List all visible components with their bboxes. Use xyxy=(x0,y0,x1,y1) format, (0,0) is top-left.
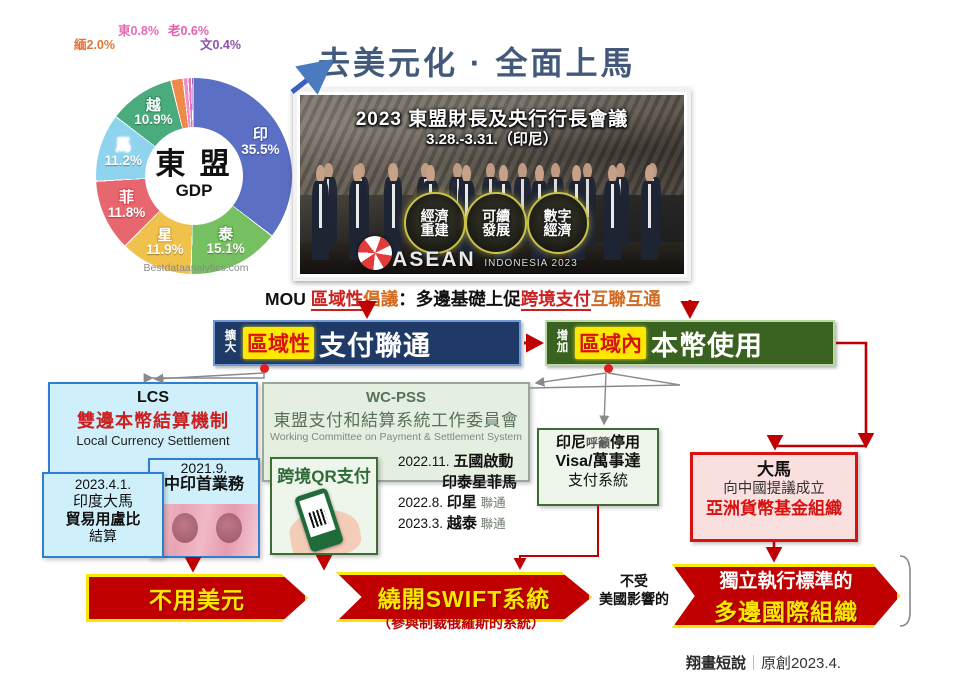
timeline-note-3: 聯通 xyxy=(481,496,506,510)
timeline-note-4: 聯通 xyxy=(481,517,506,531)
amf-box-line3: 亞洲貨幣基金組織 xyxy=(693,498,855,519)
footer-brand: 翔畫短說 xyxy=(686,655,746,672)
timeline-date-1: 2022.11. xyxy=(398,453,450,472)
timeline-row-2: 印泰星菲馬 xyxy=(398,473,530,494)
outcome-swift-label: 繞開SWIFT系統 xyxy=(378,580,551,614)
banner-green-main: 本幣使用 xyxy=(651,324,763,363)
timeline-date-4: 2023.3. xyxy=(398,515,443,534)
delegate xyxy=(640,165,659,260)
rupee-box-line3: 結算 xyxy=(44,528,162,545)
outcome-multilateral-line2: 多邊國際組織 xyxy=(714,593,858,627)
indonesia-visa-mastercard-box[interactable]: 印尼呼籲停用 Visa/萬事達 支付系統 xyxy=(537,428,659,506)
lcs-title: LCS xyxy=(50,389,256,407)
photo-badge-2: 可續 發展 xyxy=(465,192,527,254)
timeline-event-1: 五國啟動 xyxy=(453,453,513,470)
outcome-swift-sublabel: （參與制裁俄羅斯的系統） xyxy=(336,613,586,633)
lcs-chinese-name: 雙邊本幣結算機制 xyxy=(50,407,256,433)
china-india-first-business-box[interactable]: 2021.9. 中印首業務 xyxy=(148,458,260,558)
mou-word-initiative: 倡議 xyxy=(363,289,398,309)
lcs-english-name: Local Currency Settlement xyxy=(50,433,256,448)
rupee-box-line1: 印度大馬 xyxy=(44,493,162,511)
cn-box-title: 中印首業務 xyxy=(150,476,258,494)
donut-center-subtitle: GDP xyxy=(176,180,213,202)
wcpss-english-name: Working Committee on Payment & Settlemen… xyxy=(264,431,528,443)
donut-label-0: 印35.5% xyxy=(220,127,300,156)
banner-blue-main: 支付聯通 xyxy=(319,324,431,363)
photo-badge-2-line2: 發展 xyxy=(482,223,510,238)
banner-regional-payment-connectivity[interactable]: 擴大 區域性 支付聯通 xyxy=(213,320,521,366)
amf-box-line1: 大馬 xyxy=(693,459,855,480)
infographic-canvas: 東 盟 GDP 印35.5%泰15.1%星11.9%菲11.8%馬11.2%越1… xyxy=(0,0,957,688)
photo-badge-3-line2: 經濟 xyxy=(544,223,572,238)
donut-label-6: 緬2.0% xyxy=(74,34,115,53)
timeline-date-3: 2022.8. xyxy=(398,494,443,513)
photo-badge-1-line2: 重建 xyxy=(421,223,449,238)
mou-prefix: MOU xyxy=(265,289,311,309)
asean-host-label: INDONESIA 2023 xyxy=(484,258,577,269)
donut-label-9: 文0.4% xyxy=(200,34,241,53)
cn-box-date: 2021.9. xyxy=(150,460,258,476)
visa-box-line1: 印尼呼籲停用 xyxy=(539,434,657,452)
outcome-no-usd-banner[interactable]: 不用美元 xyxy=(86,574,308,622)
footer-text: 原創2023.4. xyxy=(761,655,841,672)
not-affected-note: 不受美國影響的 xyxy=(596,573,672,608)
asean-wordmark: ASEAN xyxy=(392,248,476,272)
visa-box-line2: Visa/萬事達 xyxy=(539,452,657,472)
timeline-row-1: 2022.11. 五國啟動 xyxy=(398,452,530,473)
photo-title-line2: 3.28.-3.31.（印尼） xyxy=(300,128,684,149)
photo-badge-1: 經濟 重建 xyxy=(404,192,466,254)
rupee-box-line2: 貿易用盧比 xyxy=(44,511,162,529)
banner-blue-anchor-dot xyxy=(260,364,269,373)
asean-gdp-donut-chart: 東 盟 GDP 印35.5%泰15.1%星11.9%菲11.8%馬11.2%越1… xyxy=(96,78,292,274)
mou-statement: MOU 區域性倡議：多邊基礎上促跨境支付互聯互通 xyxy=(265,286,661,311)
donut-label-7: 東0.8% xyxy=(118,20,159,39)
banner-green-highlight: 區域內 xyxy=(575,327,646,359)
qr-box-title: 跨境QR支付 xyxy=(272,462,376,487)
timeline-row-4: 2023.3. 越泰 聯通 xyxy=(398,514,530,535)
banner-local-currency-usage[interactable]: 增加 區域內 本幣使用 xyxy=(545,320,835,366)
asian-monetary-fund-box[interactable]: 大馬 向中國提議成立 亞洲貨幣基金組織 xyxy=(690,452,858,542)
banknote-photo xyxy=(150,504,258,556)
wcpss-title: WC-PSS xyxy=(264,389,528,406)
india-malaysia-rupee-box[interactable]: 2023.4.1. 印度大馬 貿易用盧比 結算 xyxy=(42,472,164,558)
outcome-no-usd-label: 不用美元 xyxy=(149,581,245,615)
wcpss-timeline: 2022.11. 五國啟動 印泰星菲馬 2022.8. 印星 聯通 2023.3… xyxy=(398,452,530,535)
donut-label-2: 星11.9% xyxy=(125,228,205,257)
summit-photo-image: 2023 東盟財長及央行行長會議 3.28.-3.31.（印尼） 經濟 重建 可… xyxy=(300,95,684,274)
chart-credit: Bestdataanalytics.com xyxy=(96,262,296,274)
rupee-box-date: 2023.4.1. xyxy=(44,477,162,493)
donut-label-5: 越10.9% xyxy=(113,98,193,127)
banner-green-anchor-dot xyxy=(604,364,613,373)
banknote-face-left xyxy=(172,513,198,543)
wcpss-chinese-name: 東盟支付和結算系統工作委員會 xyxy=(264,406,528,431)
footer-credit: 翔畫短說｜原創2023.4. xyxy=(686,652,841,673)
donut-label-3: 菲11.8% xyxy=(87,190,167,219)
asean-logo-icon xyxy=(358,236,392,270)
donut-label-4: 馬11.2% xyxy=(83,138,163,167)
timeline-event-4: 越泰 xyxy=(447,515,477,532)
outcome-multilateral-line1: 獨立執行標準的 xyxy=(719,566,852,593)
delegate xyxy=(311,165,330,260)
summit-photo: 2023 東盟財長及央行行長會議 3.28.-3.31.（印尼） 經濟 重建 可… xyxy=(293,88,691,281)
amf-box-line2: 向中國提議成立 xyxy=(693,480,855,498)
timeline-event-3: 印星 xyxy=(447,494,477,511)
outcome-multilateral-org-banner[interactable]: 獨立執行標準的 多邊國際組織 xyxy=(672,564,900,628)
photo-title-line1: 2023 東盟財長及央行行長會議 xyxy=(300,104,684,131)
timeline-row-3: 2022.8. 印星 聯通 xyxy=(398,493,530,514)
mou-highlight-regional: 區域性 xyxy=(311,289,364,311)
visa-box-line3: 支付系統 xyxy=(539,472,657,490)
delegate xyxy=(603,165,622,260)
banner-green-prefix: 增加 xyxy=(555,331,570,354)
banner-blue-highlight: 區域性 xyxy=(243,327,314,359)
mou-middle-text: ：多邊基礎上促 xyxy=(398,289,521,309)
mou-word-interconnect: 互聯互通 xyxy=(591,289,661,309)
footer-separator: ｜ xyxy=(746,655,761,672)
cross-border-qr-box[interactable]: 跨境QR支付 xyxy=(270,457,378,555)
banner-blue-prefix: 擴大 xyxy=(223,331,238,354)
banknote-face-right xyxy=(216,513,242,543)
page-title: 去美元化 · 全面上馬 xyxy=(318,38,635,84)
photo-badge-3: 數字 經濟 xyxy=(527,192,589,254)
mou-highlight-crossborder-payment: 跨境支付 xyxy=(521,289,591,311)
